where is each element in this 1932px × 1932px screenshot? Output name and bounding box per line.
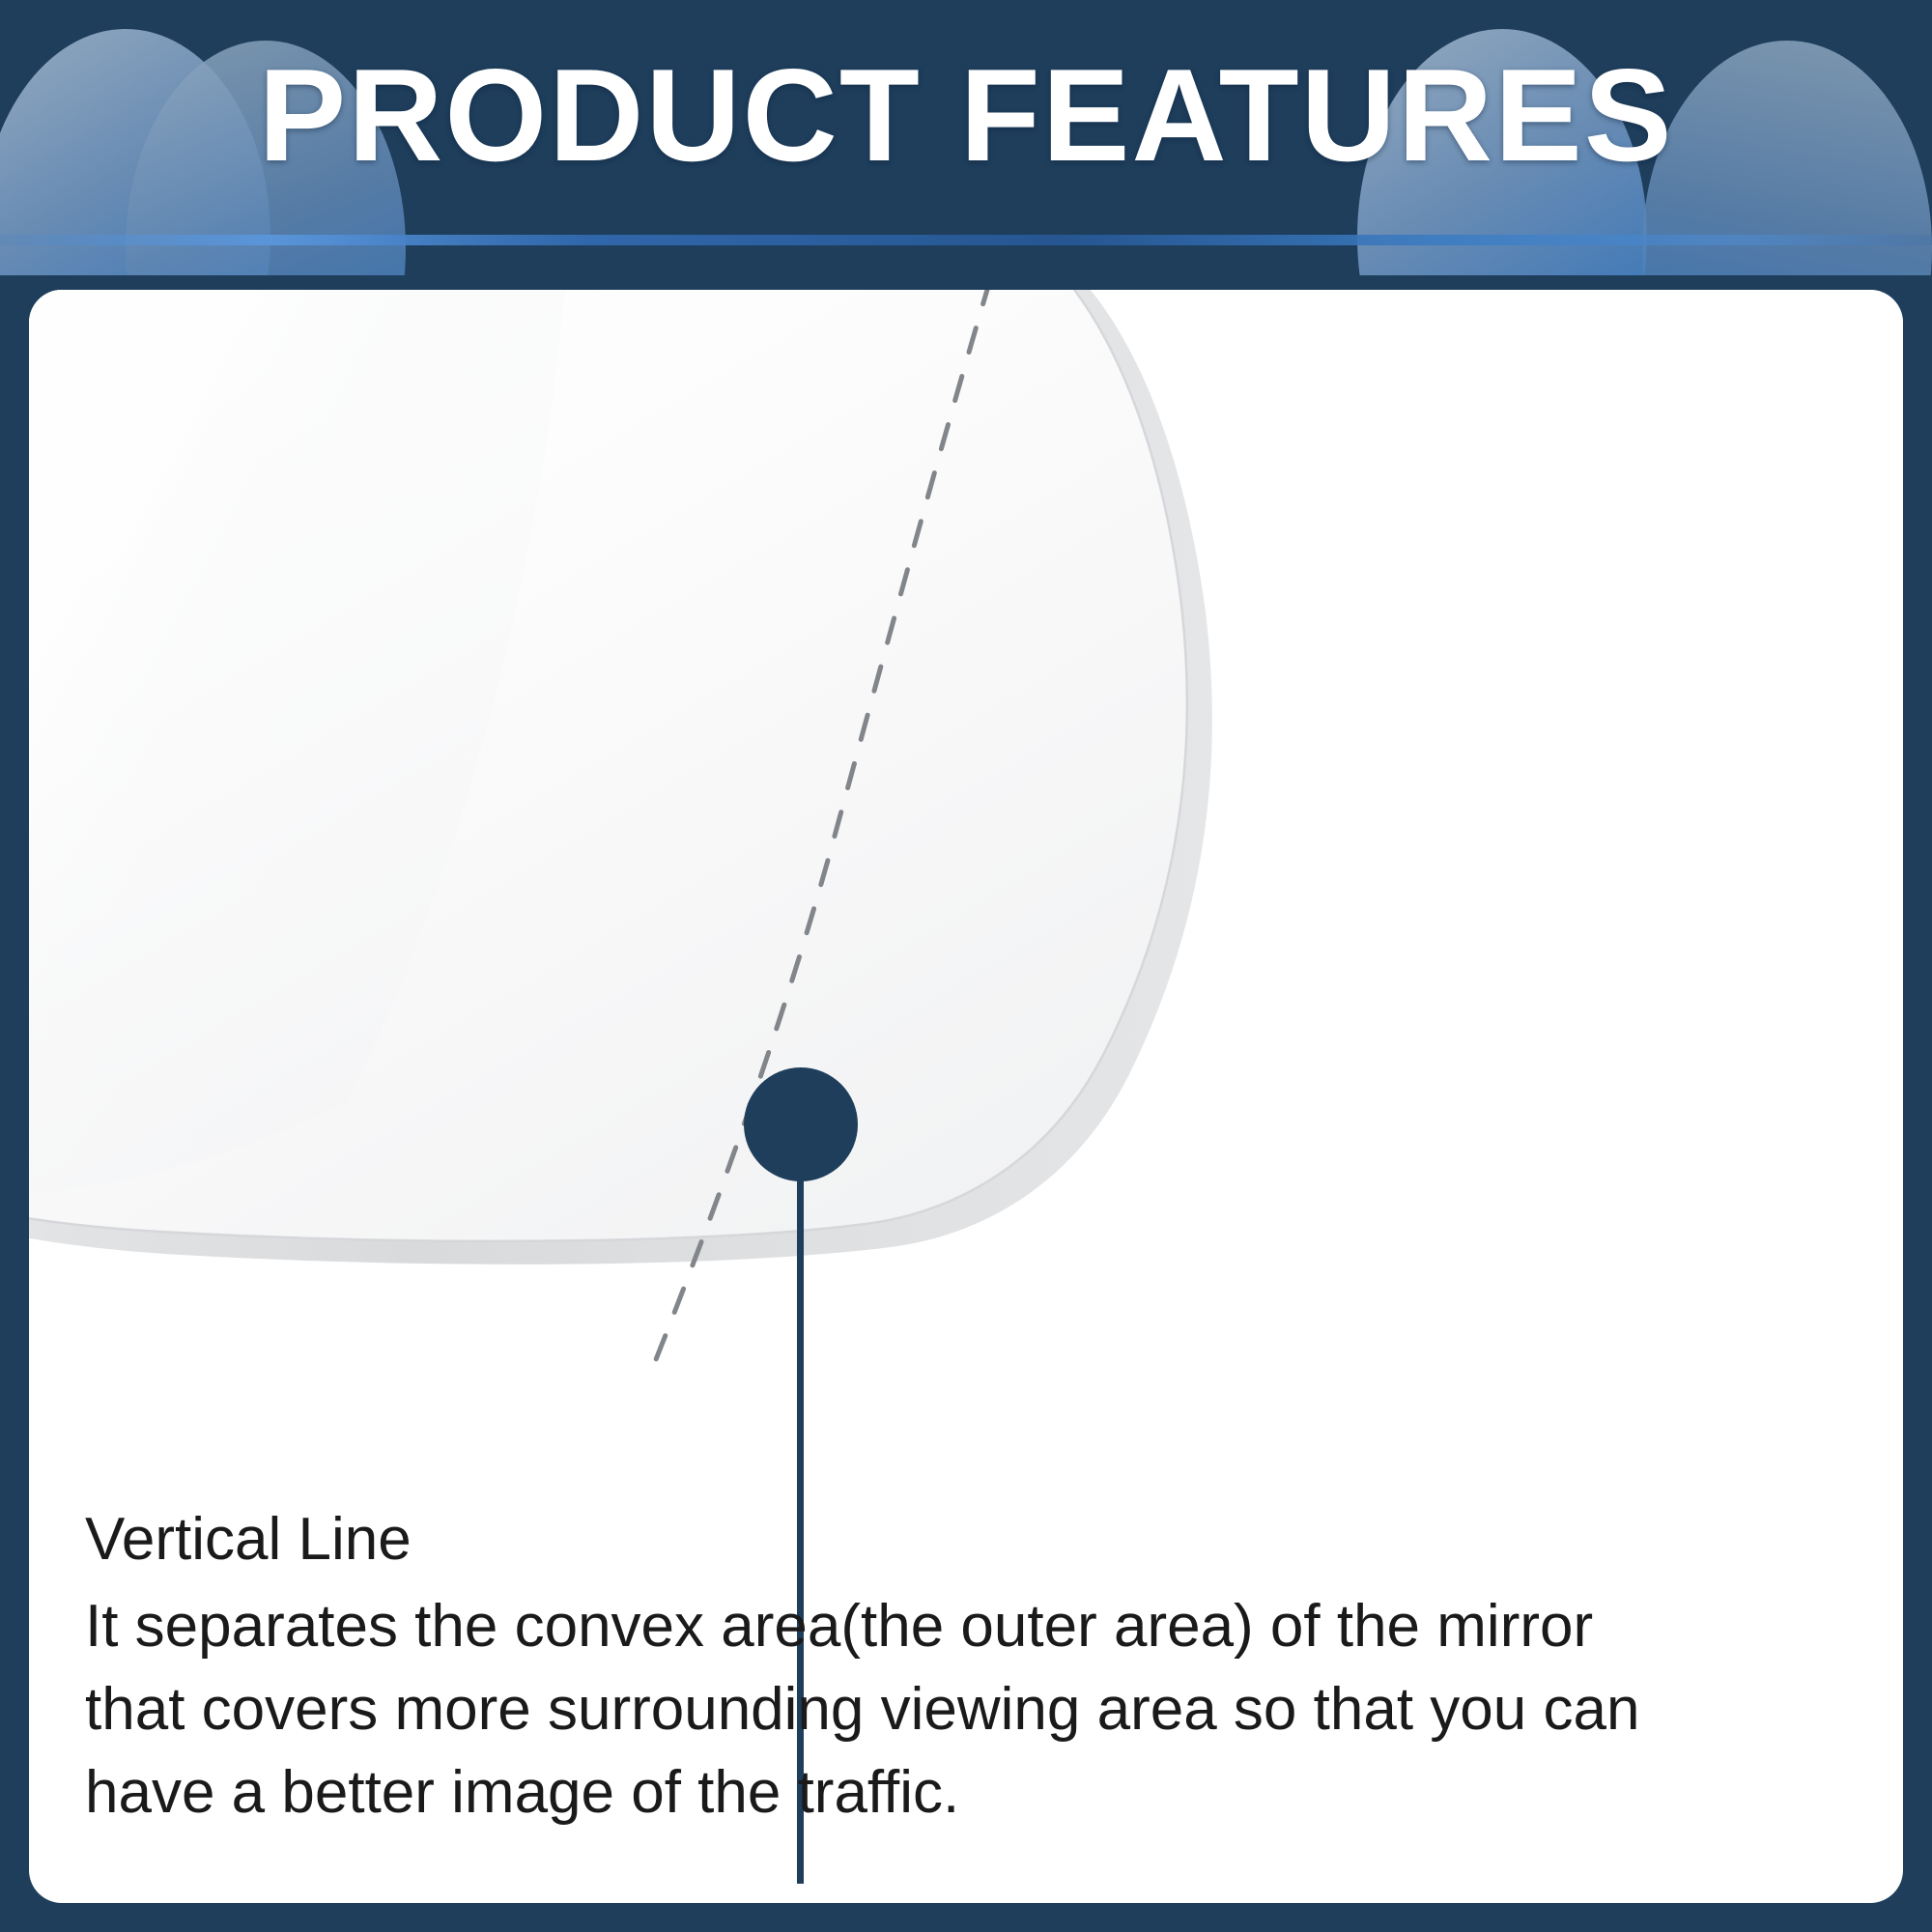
mirror-product-photo xyxy=(29,290,1903,1488)
header-banner: PRODUCT FEATURES xyxy=(0,0,1932,275)
page-title: PRODUCT FEATURES xyxy=(0,0,1932,232)
caption-heading: Vertical Line xyxy=(85,1502,1862,1577)
content-panel: Vertical Line It separates the convex ar… xyxy=(29,290,1903,1903)
header-accent-line xyxy=(0,235,1932,245)
caption-block: Vertical Line It separates the convex ar… xyxy=(85,1502,1862,1834)
caption-body-line-1: It separates the convex area(the outer a… xyxy=(85,1585,1862,1668)
mirror-glass-illustration xyxy=(29,290,1903,1488)
caption-body-line-2: that covers more surrounding viewing are… xyxy=(85,1668,1862,1751)
product-features-infographic: PRODUCT FEATURES xyxy=(0,0,1932,1932)
caption-body-line-3: have a better image of the traffic. xyxy=(85,1751,1862,1834)
